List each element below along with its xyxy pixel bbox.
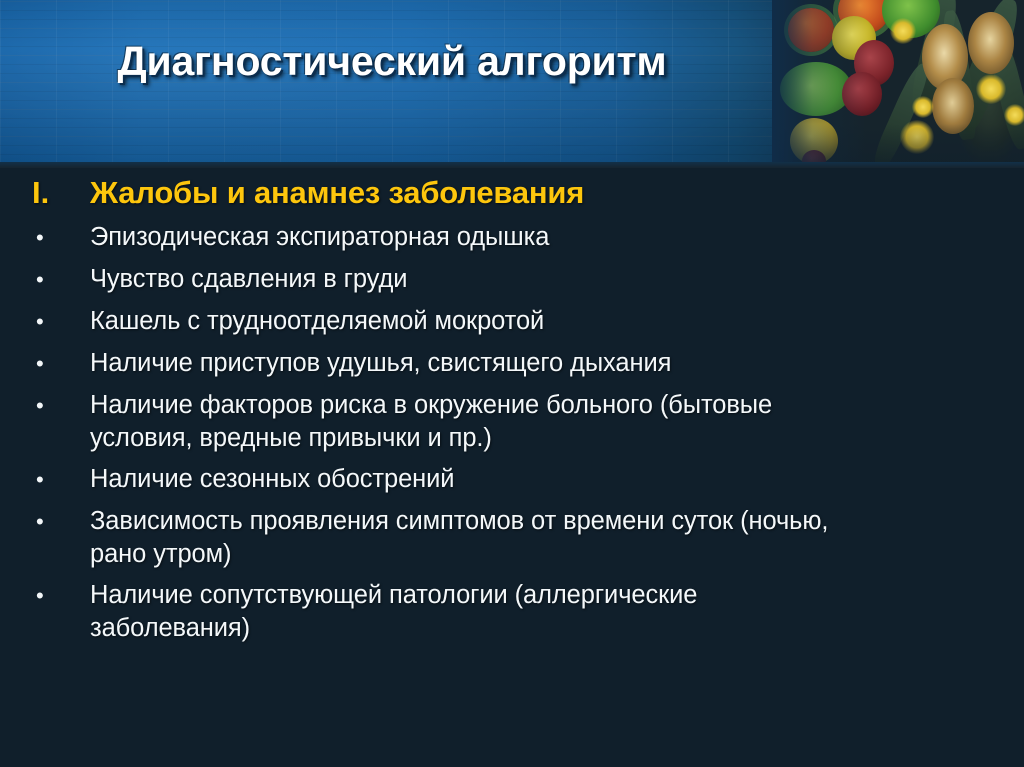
bullet-text: Эпизодическая экспираторная одышка — [90, 221, 549, 254]
bullet-list: Эпизодическая экспираторная одышка Чувст… — [0, 219, 1024, 651]
list-item: Наличие факторов риска в окружение больн… — [0, 387, 1024, 461]
bullet-text: Кашель с трудноотделяемой мокротой — [90, 305, 544, 338]
bullet-marker-icon — [0, 389, 90, 423]
slide-body: I. Жалобы и анамнез заболевания Эпизодич… — [0, 175, 1024, 651]
bullet-text: Зависимость проявления симптомов от врем… — [90, 505, 860, 571]
list-item: Чувство сдавления в груди — [0, 261, 1024, 303]
header-bottom-edge — [0, 162, 1024, 168]
bullet-marker-icon — [0, 347, 90, 381]
list-item: Наличие приступов удушья, свистящего дых… — [0, 345, 1024, 387]
bullet-text: Наличие приступов удушья, свистящего дых… — [90, 347, 671, 380]
bullet-marker-icon — [0, 305, 90, 339]
slide-header-banner: Диагностический алгоритм — [0, 0, 1024, 164]
bullet-text: Наличие факторов риска в окружение больн… — [90, 389, 860, 455]
list-item: Наличие сопутствующей патологии (аллерги… — [0, 577, 1024, 651]
slide-title: Диагностический алгоритм — [0, 38, 1024, 85]
section-heading-row: I. Жалобы и анамнез заболевания — [0, 175, 1024, 217]
presentation-slide: Диагностический алгоритм I. Жалобы и ана… — [0, 0, 1024, 767]
section-numeral: I. — [0, 175, 90, 211]
list-item: Зависимость проявления симптомов от врем… — [0, 503, 1024, 577]
list-item: Эпизодическая экспираторная одышка — [0, 219, 1024, 261]
bullet-marker-icon — [0, 463, 90, 497]
list-item: Кашель с трудноотделяемой мокротой — [0, 303, 1024, 345]
bullet-text: Чувство сдавления в груди — [90, 263, 407, 296]
bullet-marker-icon — [0, 263, 90, 297]
section-heading-text: Жалобы и анамнез заболевания — [90, 175, 584, 211]
bullet-text: Наличие сопутствующей патологии (аллерги… — [90, 579, 860, 645]
bullet-marker-icon — [0, 579, 90, 613]
bullet-marker-icon — [0, 505, 90, 539]
list-item: Наличие сезонных обострений — [0, 461, 1024, 503]
bullet-marker-icon — [0, 221, 90, 255]
bullet-text: Наличие сезонных обострений — [90, 463, 454, 496]
